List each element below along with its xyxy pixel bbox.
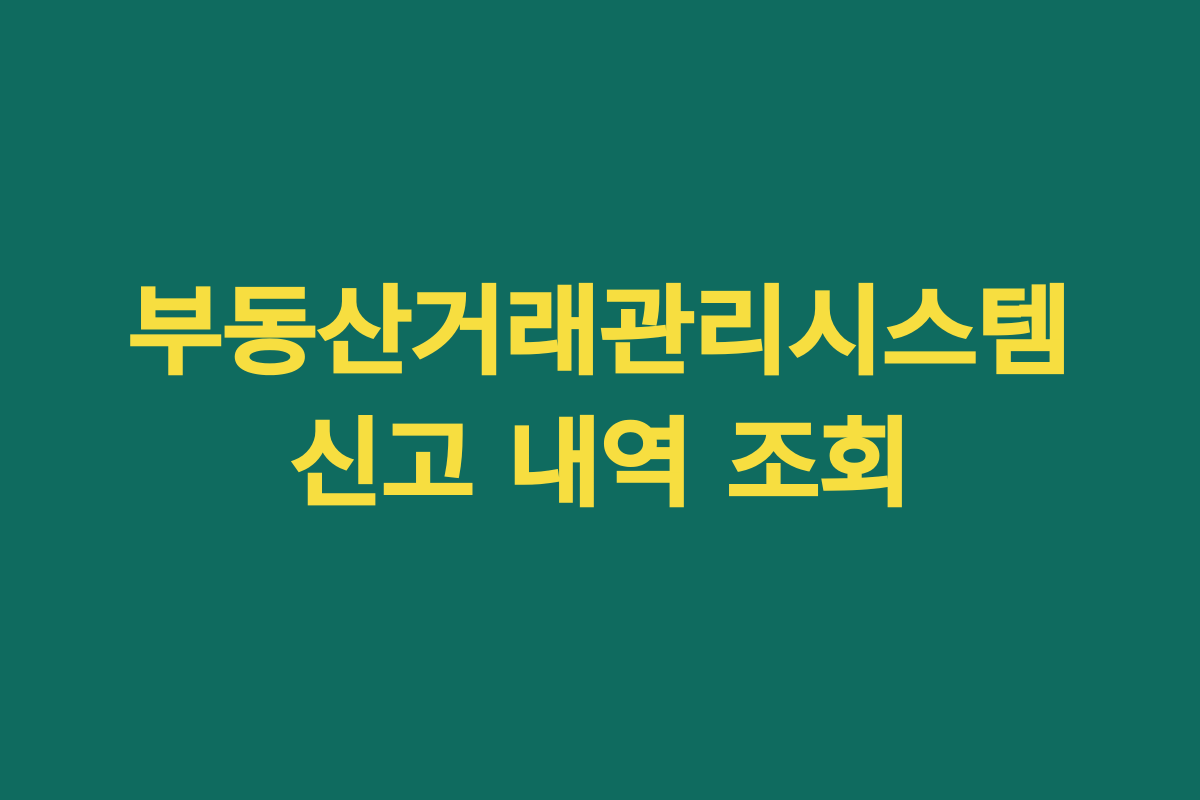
headline-block: 부동산거래관리시스템 신고 내역 조회: [0, 284, 1200, 512]
headline-line-secondary: 신고 내역 조회: [289, 416, 911, 512]
headline-line-primary: 부동산거래관리시스템: [129, 284, 1072, 380]
title-card: 부동산거래관리시스템 신고 내역 조회: [0, 0, 1200, 800]
